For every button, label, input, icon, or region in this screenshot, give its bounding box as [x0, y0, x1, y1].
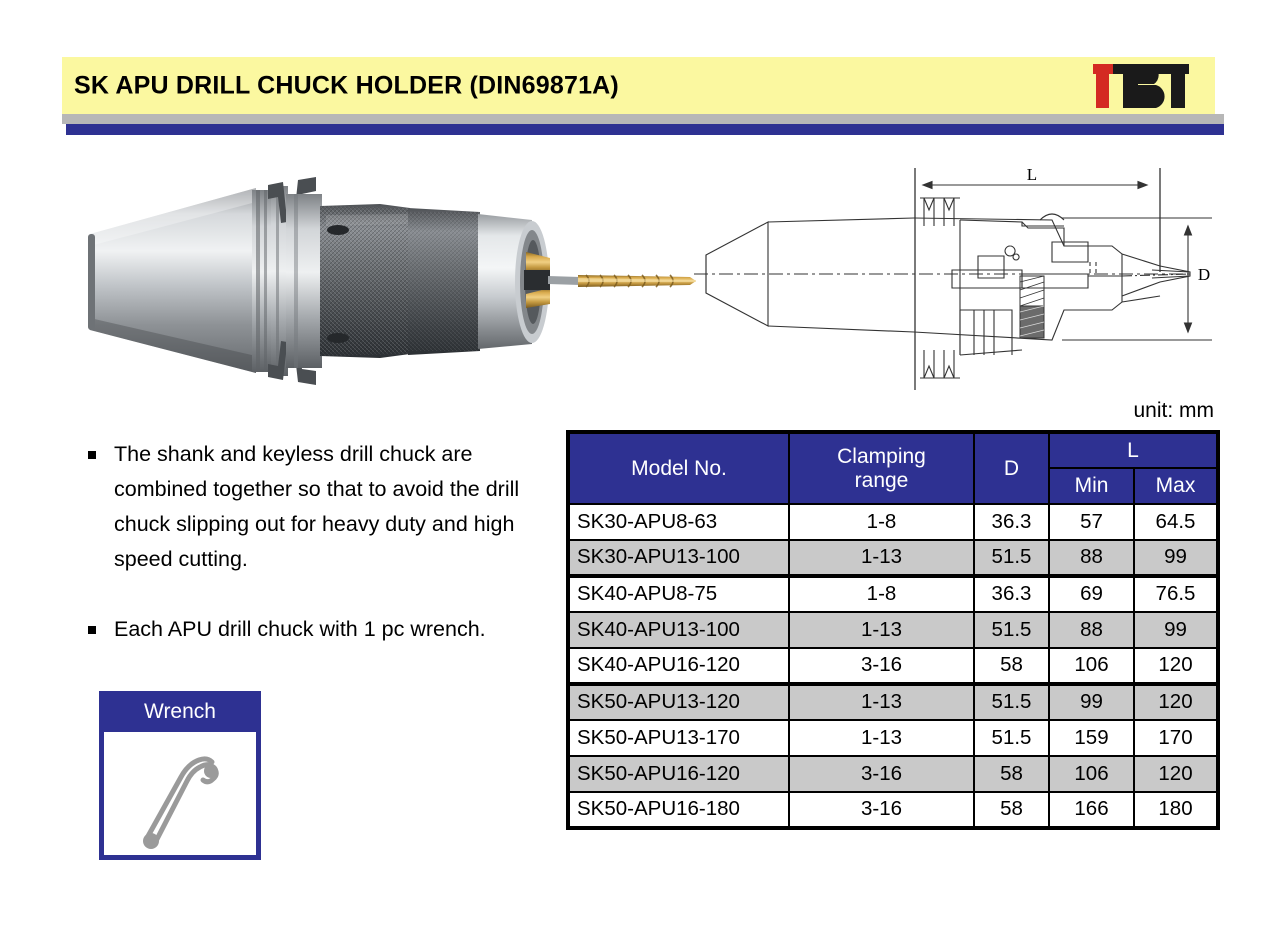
drill-chuck-holder-photo: [80, 158, 700, 403]
wrench-panel-body: [99, 732, 261, 860]
min-cell: 88: [1049, 612, 1134, 648]
feature-item: The shank and keyless drill chuck are co…: [86, 437, 556, 577]
model-cell: SK40-APU8-75: [568, 576, 789, 612]
header-clamping-line1: Clamping: [790, 445, 973, 469]
feature-item: Each APU drill chuck with 1 pc wrench.: [86, 612, 556, 647]
clamping-cell: 1-8: [789, 504, 974, 540]
table-row: SK50-APU13-1701-1351.5159170: [568, 720, 1218, 756]
page-title: SK APU DRILL CHUCK HOLDER (DIN69871A): [74, 71, 619, 100]
min-cell: 57: [1049, 504, 1134, 540]
model-cell: SK40-APU16-120: [568, 648, 789, 684]
wrench-panel-title: Wrench: [99, 691, 261, 732]
max-cell: 180: [1134, 792, 1218, 828]
feature-text: Each APU drill chuck with 1 pc wrench.: [114, 617, 486, 641]
dimension-label-D: D: [1198, 265, 1210, 284]
title-bar: SK APU DRILL CHUCK HOLDER (DIN69871A): [62, 57, 1215, 114]
model-cell: SK40-APU13-100: [568, 612, 789, 648]
dimension-label-L: L: [1027, 165, 1037, 184]
bullet-square-icon: [88, 451, 96, 459]
header-l: L: [1049, 432, 1218, 468]
min-cell: 159: [1049, 720, 1134, 756]
min-cell: 166: [1049, 792, 1134, 828]
header-clamping-range: Clamping range: [789, 432, 974, 504]
page-header: SK APU DRILL CHUCK HOLDER (DIN69871A): [0, 0, 1280, 140]
clamping-cell: 1-13: [789, 684, 974, 720]
header-max: Max: [1134, 468, 1218, 504]
header-rule-gray: [62, 114, 1224, 124]
clamping-cell: 1-8: [789, 576, 974, 612]
d-cell: 36.3: [974, 504, 1049, 540]
table-row: SK40-APU8-751-836.36976.5: [568, 576, 1218, 612]
min-cell: 106: [1049, 648, 1134, 684]
d-cell: 36.3: [974, 576, 1049, 612]
clamping-cell: 1-13: [789, 540, 974, 576]
clamping-cell: 1-13: [789, 720, 974, 756]
table-row: SK50-APU16-1803-1658166180: [568, 792, 1218, 828]
max-cell: 99: [1134, 612, 1218, 648]
table-row: SK30-APU8-631-836.35764.5: [568, 504, 1218, 540]
d-cell: 51.5: [974, 540, 1049, 576]
d-cell: 51.5: [974, 720, 1049, 756]
feature-text: The shank and keyless drill chuck are co…: [114, 442, 519, 571]
max-cell: 64.5: [1134, 504, 1218, 540]
clamping-cell: 3-16: [789, 792, 974, 828]
d-cell: 51.5: [974, 612, 1049, 648]
table-row: SK30-APU13-1001-1351.58899: [568, 540, 1218, 576]
model-cell: SK30-APU13-100: [568, 540, 789, 576]
d-cell: 58: [974, 756, 1049, 792]
clamping-cell: 3-16: [789, 648, 974, 684]
model-cell: SK50-APU13-120: [568, 684, 789, 720]
max-cell: 120: [1134, 648, 1218, 684]
table-header-row: Model No. Clamping range D L: [568, 432, 1218, 468]
model-cell: SK30-APU8-63: [568, 504, 789, 540]
d-cell: 58: [974, 648, 1049, 684]
model-cell: SK50-APU13-170: [568, 720, 789, 756]
table-row: SK40-APU13-1001-1351.58899: [568, 612, 1218, 648]
max-cell: 76.5: [1134, 576, 1218, 612]
clamping-cell: 1-13: [789, 612, 974, 648]
header-rule-blue: [66, 124, 1224, 135]
max-cell: 99: [1134, 540, 1218, 576]
header-d: D: [974, 432, 1049, 504]
cross-section-drawing: L D: [692, 150, 1220, 400]
model-cell: SK50-APU16-120: [568, 756, 789, 792]
min-cell: 88: [1049, 540, 1134, 576]
bullet-square-icon: [88, 626, 96, 634]
wrench-panel: Wrench: [99, 691, 261, 860]
model-cell: SK50-APU16-180: [568, 792, 789, 828]
max-cell: 120: [1134, 684, 1218, 720]
max-cell: 120: [1134, 756, 1218, 792]
max-cell: 170: [1134, 720, 1218, 756]
specification-table: Model No. Clamping range D L Min Max SK3…: [566, 430, 1216, 830]
d-cell: 58: [974, 792, 1049, 828]
feature-list: The shank and keyless drill chuck are co…: [86, 437, 556, 647]
tbt-logo-icon: [1079, 62, 1201, 110]
table-row: SK50-APU13-1201-1351.599120: [568, 684, 1218, 720]
table-row: SK50-APU16-1203-1658106120: [568, 756, 1218, 792]
unit-note: unit: mm: [1133, 399, 1214, 423]
clamping-cell: 3-16: [789, 756, 974, 792]
table-row: SK40-APU16-1203-1658106120: [568, 648, 1218, 684]
header-clamping-line2: range: [790, 469, 973, 493]
min-cell: 106: [1049, 756, 1134, 792]
header-min: Min: [1049, 468, 1134, 504]
min-cell: 69: [1049, 576, 1134, 612]
wrench-icon: [125, 735, 235, 853]
header-model: Model No.: [568, 432, 789, 504]
d-cell: 51.5: [974, 684, 1049, 720]
min-cell: 99: [1049, 684, 1134, 720]
